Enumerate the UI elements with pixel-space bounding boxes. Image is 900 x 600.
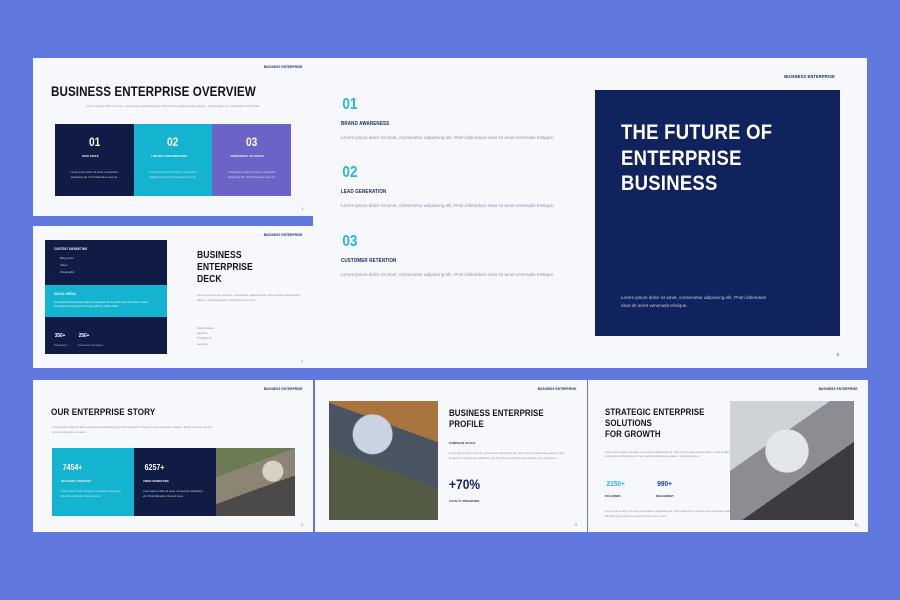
tile-body: Lorem ipsum dolor sit amet, consectetur …	[143, 490, 207, 500]
story-tile[interactable]: 6257+ VIDEO MARKETING Lorem ipsum dolor …	[134, 448, 216, 516]
content-marketing-list: Blog posts Video Infographic	[54, 256, 158, 274]
deck-stats-block: 350+ Newsletters 250+ Automated campaign…	[45, 317, 167, 354]
slide-thumbnail-deck[interactable]: BUSINESS ENTERPRISE CONTENT MARKETING Bl…	[33, 226, 313, 368]
step-number: 01	[342, 97, 357, 113]
tile-value: 7454+	[63, 464, 83, 472]
content-marketing-block: CONTENT MARKETING Blog posts Video Infog…	[45, 240, 167, 285]
step-body: Lorem ipsum dolor sit amet, consectetur …	[341, 271, 571, 278]
card-number: 01	[89, 136, 100, 148]
solutions-text-column: STRATEGIC ENTERPRISE SOLUTIONS FOR GROWT…	[605, 407, 735, 519]
slide-thumbnail-overview[interactable]: BUSINESS ENTERPRISE BUSINESS ENTERPRISE …	[33, 58, 313, 216]
block-heading: CONTENT MARKETING	[54, 247, 143, 251]
list-item: Infographic	[54, 270, 158, 274]
stat-label: Automated campaigns	[78, 344, 104, 347]
page-subtitle: Lorem ipsum dolor sit amet consectetur a…	[52, 425, 212, 435]
tile-body: Lorem ipsum dolor sit amet, consectetur …	[61, 490, 125, 500]
card-number: 03	[246, 136, 257, 148]
section-kicker: CAMPAIGN GOALS	[449, 441, 554, 445]
page-number: 3	[301, 523, 303, 527]
deck-keyword-list: Pellentesque, habitant Tristique & senec…	[197, 326, 301, 348]
page-title: STRATEGIC ENTERPRISE SOLUTIONS FOR GROWT…	[605, 407, 717, 441]
stat-item: 2150+ FOLLOWERS	[605, 473, 626, 498]
feature-card[interactable]: 03 FREQUENCY OF POSTS Lorem ipsum dolor …	[212, 124, 291, 196]
brand-mark: BUSINESS ENTERPRISE	[784, 74, 835, 79]
step-heading: BRAND AWARENESS	[341, 121, 539, 127]
social-media-block: SOCIAL MEDIA A wonderful serenity has ta…	[45, 285, 167, 318]
step-list: 01 BRAND AWARENESS Lorem ipsum dolor sit…	[341, 96, 571, 301]
stat-value: 990+	[658, 480, 673, 488]
presentation-thumbnail-grid: BUSINESS ENTERPRISE BUSINESS ENTERPRISE …	[0, 0, 900, 600]
tile-value: 6257+	[145, 464, 165, 472]
solutions-stat-row: 2150+ FOLLOWERS 990+ ENGAGEMENT	[605, 473, 735, 498]
person-using-laptop-overhead-photo	[329, 401, 438, 520]
feature-card[interactable]: 02 LIMITED CUSTOMIZATION Lorem ipsum dol…	[134, 124, 213, 196]
page-title: OUR ENTERPRISE STORY	[51, 407, 155, 418]
card-number: 02	[167, 136, 178, 148]
page-body: Lorem ipsum dolor sit amet, consectetur …	[605, 450, 735, 460]
page-subtitle: Lorem ipsum dolor sit amet, consectetur …	[73, 104, 273, 109]
future-headline-panel: THE FUTURE OF ENTERPRISE BUSINESS Lorem …	[595, 90, 840, 336]
list-item: senectus	[197, 342, 301, 347]
slide-thumbnail-future[interactable]: BUSINESS ENTERPRISE 01 BRAND AWARENESS L…	[313, 58, 867, 368]
card-body: Lorem ipsum dolor sit amet, consectetur …	[223, 171, 280, 181]
profile-text-column: BUSINESS ENTERPRISE PROFILE CAMPAIGN GOA…	[449, 408, 571, 503]
deck-left-column: CONTENT MARKETING Blog posts Video Infog…	[45, 240, 167, 356]
stat-item: 990+ ENGAGEMENT	[656, 473, 676, 498]
list-item: Video	[54, 263, 158, 267]
card-label: LIMITED CUSTOMIZATION	[145, 154, 194, 158]
page-body-secondary: Lorem ipsum dolor sit amet, consectetur …	[605, 509, 735, 519]
page-title: BUSINESS ENTERPRISE PROFILE	[449, 408, 554, 430]
stat-value: 250+	[78, 333, 89, 339]
page-body: Lorem ipsum dolor sit amet, consectetur …	[449, 451, 571, 461]
social-media-quote: A wonderful serenity has taken possessio…	[54, 301, 158, 311]
page-number: 1	[301, 207, 303, 211]
step-item: 03 CUSTOMER RETENTION Lorem ipsum dolor …	[341, 233, 571, 278]
story-tile[interactable]: 7454+ BLOGGING STRATEGY Lorem ipsum dolo…	[52, 448, 134, 516]
slide-thumbnail-profile[interactable]: BUSINESS ENTERPRISE BUSINESS ENTERPRISE …	[315, 380, 587, 532]
stat-item: 250+ Automated campaigns	[78, 324, 104, 347]
step-number: 03	[342, 234, 357, 250]
percent-value: +70%	[449, 477, 480, 491]
page-number: 8	[837, 352, 839, 357]
page-title: BUSINESS ENTERPRISE DECK	[197, 250, 286, 285]
step-heading: LEAD GENERATION	[341, 189, 539, 195]
card-label: HIGH PRICE	[66, 154, 115, 158]
panel-headline: THE FUTURE OF ENTERPRISE BUSINESS	[621, 120, 791, 197]
stat-label: Newsletters	[54, 344, 68, 347]
slide-thumbnail-solutions[interactable]: BUSINESS ENTERPRISE STRATEGIC ENTERPRISE…	[588, 380, 868, 532]
step-item: 02 LEAD GENERATION Lorem ipsum dolor sit…	[341, 164, 571, 209]
stat-label: ENGAGEMENT	[656, 495, 674, 498]
deck-right-column: BUSINESS ENTERPRISE DECK Lorem ipsum dol…	[197, 250, 301, 347]
percent-label: LOYALTY PROGRAMS	[449, 499, 554, 503]
step-number: 02	[342, 165, 357, 181]
brand-mark: BUSINESS ENTERPRISE	[263, 387, 302, 391]
stat-value: 2150+	[606, 480, 624, 488]
step-body: Lorem ipsum dolor sit amet, consectetur …	[341, 134, 571, 141]
tile-label: VIDEO MARKETING	[143, 479, 198, 483]
feature-card[interactable]: 01 HIGH PRICE Lorem ipsum dolor sit amet…	[55, 124, 134, 196]
person-on-laptop-with-coffee-photo	[730, 401, 854, 520]
block-heading: SOCIAL MEDIA	[54, 292, 143, 296]
stat-label: FOLLOWERS	[605, 495, 623, 498]
tile-label: BLOGGING STRATEGY	[61, 479, 116, 483]
card-label: FREQUENCY OF POSTS	[223, 154, 272, 158]
feature-card-row: 01 HIGH PRICE Lorem ipsum dolor sit amet…	[55, 124, 291, 196]
woman-working-on-laptop-photo	[216, 448, 295, 516]
panel-body: Lorem ipsum dolor sit amet, consectetur …	[621, 294, 771, 310]
brand-mark: BUSINESS ENTERPRISE	[537, 387, 576, 391]
page-number: 11	[855, 523, 858, 527]
page-body: Lorem ipsum dolor sit amet, consectetur …	[197, 293, 301, 303]
slide-thumbnail-story[interactable]: BUSINESS ENTERPRISE OUR ENTERPRISE STORY…	[33, 380, 313, 532]
list-item: Blog posts	[54, 256, 158, 260]
page-title: BUSINESS ENTERPRISE OVERVIEW	[33, 84, 274, 99]
step-body: Lorem ipsum dolor sit amet, consectetur …	[341, 202, 571, 209]
brand-mark: BUSINESS ENTERPRISE	[818, 387, 857, 391]
card-body: Lorem ipsum dolor sit amet, consectetur …	[66, 171, 123, 181]
step-item: 01 BRAND AWARENESS Lorem ipsum dolor sit…	[341, 96, 571, 141]
story-tile-row: 7454+ BLOGGING STRATEGY Lorem ipsum dolo…	[52, 448, 295, 516]
page-number: 2	[301, 359, 303, 363]
brand-mark: BUSINESS ENTERPRISE	[263, 65, 302, 69]
page-number: 6	[575, 523, 577, 527]
stat-value: 350+	[55, 333, 66, 339]
step-heading: CUSTOMER RETENTION	[341, 258, 539, 264]
brand-mark: BUSINESS ENTERPRISE	[263, 233, 302, 237]
card-body: Lorem ipsum dolor sit amet, consectetur …	[145, 171, 202, 181]
stat-item: 350+ Newsletters	[54, 324, 68, 347]
